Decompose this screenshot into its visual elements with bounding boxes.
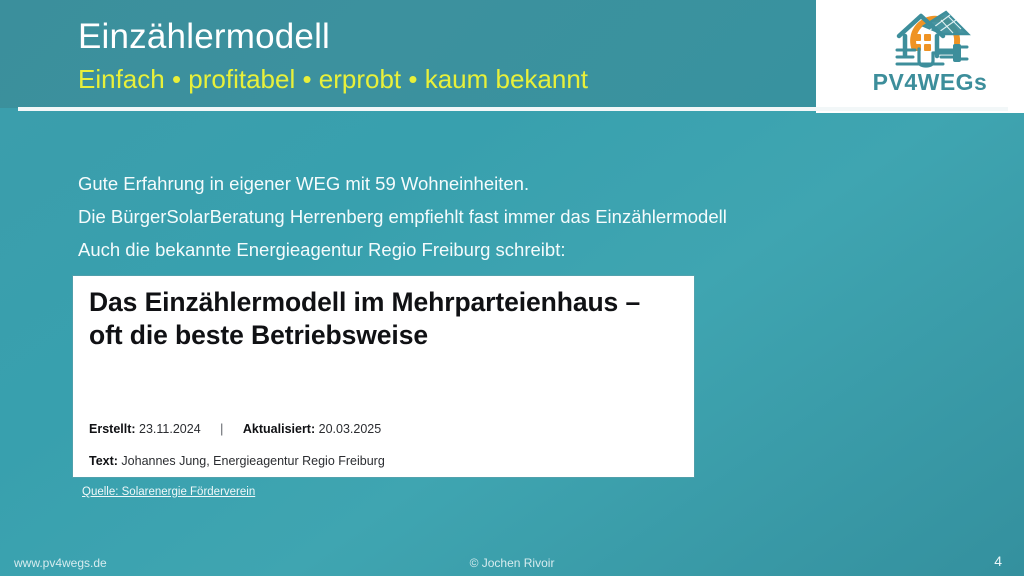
page-subtitle: Einfach • profitabel • erprobt • kaum be…	[78, 63, 588, 95]
updated-value: 20.03.2025	[319, 422, 382, 436]
logo-wordmark: PV4WEGs	[855, 69, 1005, 96]
updated-label: Aktualisiert:	[243, 422, 315, 436]
body-line: Die BürgerSolarBeratung Herrenberg empfi…	[78, 205, 727, 229]
created-label: Erstellt:	[89, 422, 136, 436]
page-title: Einzählermodell	[78, 16, 330, 58]
article-dates: Erstellt: 23.11.2024 | Aktualisiert: 20.…	[89, 421, 381, 437]
body-line: Auch die bekannte Energieagentur Regio F…	[78, 238, 565, 262]
logo: PV4WEGs	[855, 3, 1005, 111]
house-solar-panel-plug-icon	[883, 3, 979, 69]
slide: Einzählermodell Einfach • profitabel • e…	[0, 0, 1024, 576]
article-author: Text: Johannes Jung, Energieagentur Regi…	[89, 453, 385, 469]
meta-separator: |	[204, 421, 239, 437]
footer-copyright: © Jochen Rivoir	[0, 555, 1024, 571]
author-value: Johannes Jung, Energieagentur Regio Frei…	[121, 454, 384, 468]
footer-page-number: 4	[994, 553, 1002, 569]
article-headline: Das Einzählermodell im Mehrparteienhaus …	[89, 286, 679, 352]
article-screenshot-card: Das Einzählermodell im Mehrparteienhaus …	[73, 276, 694, 477]
footer: www.pv4wegs.de © Jochen Rivoir 4	[0, 546, 1024, 576]
created-value: 23.11.2024	[139, 422, 201, 436]
author-label: Text:	[89, 454, 118, 468]
body-line: Gute Erfahrung in eigener WEG mit 59 Woh…	[78, 172, 529, 196]
source-link[interactable]: Quelle: Solarenergie Förderverein	[82, 485, 255, 500]
